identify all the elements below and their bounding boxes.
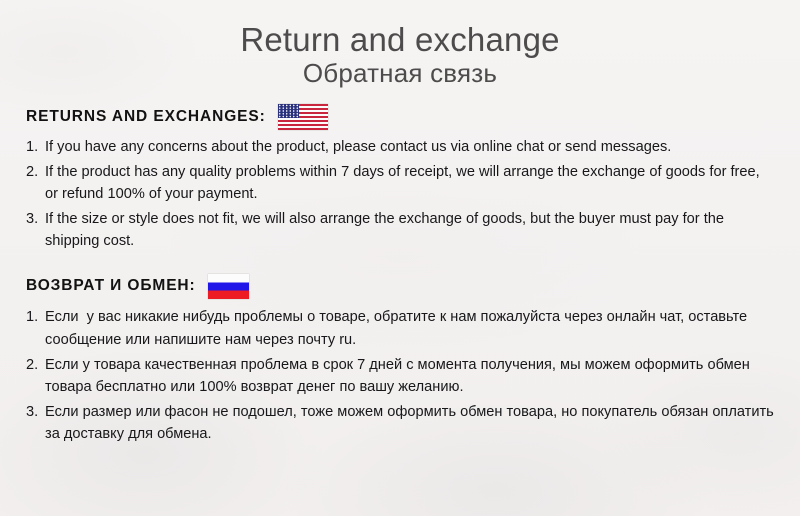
english-section-header: RETURNS AND EXCHANGES: (26, 103, 776, 131)
flag-russia-icon (208, 274, 249, 299)
russian-section-header: ВОЗВРАТ И ОБМЕН: (26, 272, 776, 300)
flag-united-states-icon (278, 104, 328, 130)
list-item: 2. If the product has any quality proble… (26, 161, 776, 205)
page-title-block: Return and exchange Обратная связь (0, 0, 800, 89)
list-item: 2. Если у товара качественная проблема в… (26, 354, 776, 398)
page-subtitle: Обратная связь (0, 59, 800, 89)
list-item-text: Если размер или фасон не подошел, тоже м… (45, 401, 776, 445)
list-item-text: If the size or style does not fit, we wi… (45, 208, 776, 252)
list-item-number: 3. (26, 208, 45, 230)
list-item-text: If the product has any quality problems … (45, 161, 776, 205)
list-item-number: 1. (26, 306, 45, 328)
list-item-number: 2. (26, 161, 45, 183)
english-terms-list: 1. If you have any concerns about the pr… (26, 136, 776, 253)
english-section-heading: RETURNS AND EXCHANGES: (26, 108, 266, 126)
list-item: 1. Если у вас никакие нибудь проблемы о … (26, 306, 776, 350)
list-item: 3. Если размер или фасон не подошел, тож… (26, 401, 776, 445)
russian-terms-list: 1. Если у вас никакие нибудь проблемы о … (26, 306, 776, 445)
list-item-text: Если у вас никакие нибудь проблемы о тов… (45, 306, 776, 350)
list-item-number: 1. (26, 136, 45, 158)
list-item-number: 2. (26, 354, 45, 376)
section-returns-and-exchanges-russian: ВОЗВРАТ И ОБМЕН: 1. Если у вас никакие н… (0, 272, 800, 445)
russian-section-heading: ВОЗВРАТ И ОБМЕН: (26, 277, 196, 295)
list-item-text: If you have any concerns about the produ… (45, 136, 776, 158)
list-item: 1. If you have any concerns about the pr… (26, 136, 776, 158)
list-item: 3. If the size or style does not fit, we… (26, 208, 776, 252)
us-flag-canton (278, 104, 299, 118)
section-returns-and-exchanges-english: RETURNS AND EXCHANGES: 1. If you have an… (0, 103, 800, 253)
return-and-exchange-page: Return and exchange Обратная связь RETUR… (0, 0, 800, 516)
list-item-number: 3. (26, 401, 45, 423)
list-item-text: Если у товара качественная проблема в ср… (45, 354, 776, 398)
page-title: Return and exchange (0, 22, 800, 58)
